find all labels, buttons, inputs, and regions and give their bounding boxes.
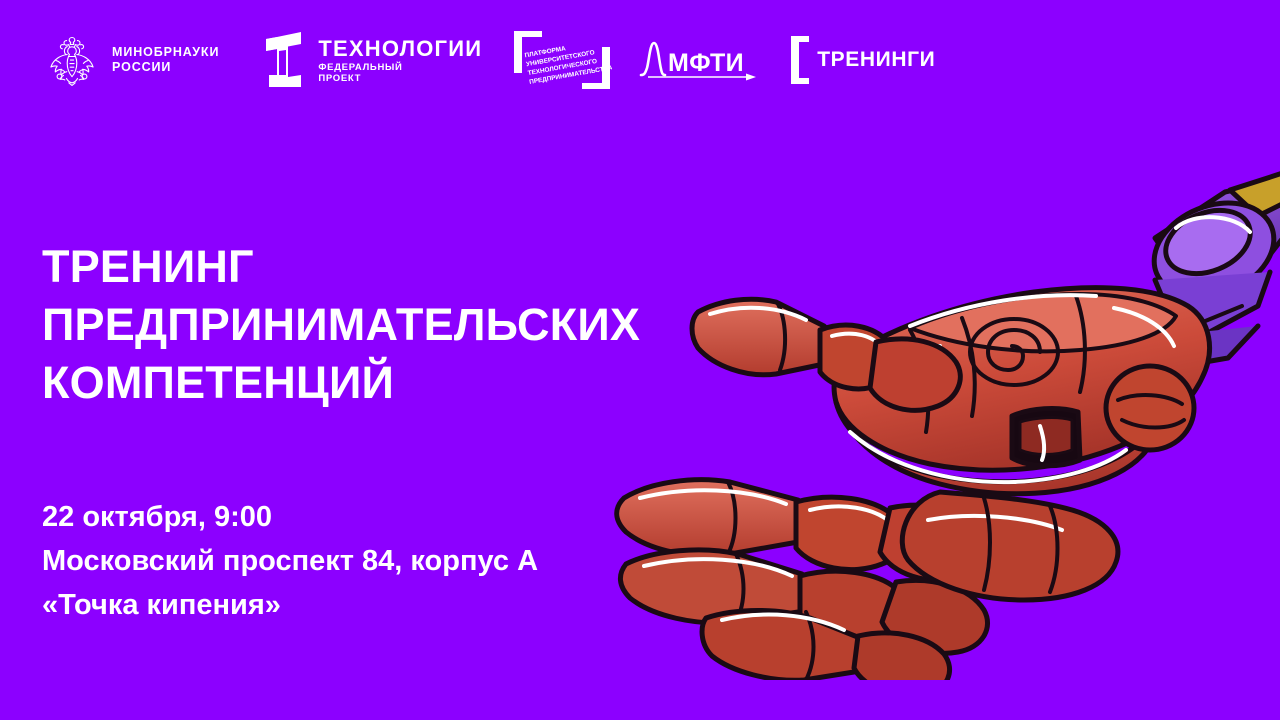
logo-mfti: МФТИ	[638, 28, 758, 92]
headline-line-1: ТРЕНИНГ	[42, 238, 702, 296]
event-datetime: 22 октября, 9:00	[42, 495, 682, 539]
logo-tekhnologii-subtitle: ФЕДЕРАЛЬНЫЙ ПРОЕКТ	[318, 62, 482, 84]
page-title: ТРЕНИНГ ПРЕДПРИНИМАТЕЛЬСКИХ КОМПЕТЕНЦИЙ	[42, 238, 702, 412]
russia-coat-of-arms-icon	[44, 30, 100, 90]
event-address: Московский проспект 84, корпус А	[42, 539, 682, 583]
svg-text:МФТИ: МФТИ	[668, 49, 744, 77]
logo-minobrnauki: МИНОБРНАУКИ РОССИИ	[44, 28, 219, 92]
logo-strip: МИНОБРНАУКИ РОССИИ ТЕХНОЛОГИИ ФЕДЕРАЛЬНЫ…	[44, 28, 935, 92]
index-finger	[692, 299, 960, 410]
headline-line-2: ПРЕДПРИНИМАТЕЛЬСКИХ	[42, 296, 702, 354]
logo-platforma: ПЛАТФОРМА УНИВЕРСИТЕТСКОГО ТЕХНОЛОГИЧЕСК…	[512, 28, 612, 92]
logo-tekhnologii: ТЕХНОЛОГИИ ФЕДЕРАЛЬНЫЙ ПРОЕКТ	[257, 28, 482, 92]
robotic-hand-illustration	[610, 120, 1280, 680]
logo-treningi-title: ТРЕНИНГИ	[817, 48, 935, 72]
bracket-icon	[788, 34, 812, 86]
poster-canvas: МИНОБРНАУКИ РОССИИ ТЕХНОЛОГИИ ФЕДЕРАЛЬНЫ…	[0, 0, 1280, 720]
event-details: 22 октября, 9:00 Московский проспект 84,…	[42, 495, 682, 627]
logo-tekhnologii-title: ТЕХНОЛОГИИ	[318, 37, 482, 60]
isometric-one-icon	[257, 31, 309, 89]
pulse-wave-icon: МФТИ	[638, 35, 758, 85]
logo-minobrnauki-wordmark: МИНОБРНАУКИ РОССИИ	[112, 45, 219, 75]
headline-line-3: КОМПЕТЕНЦИЙ	[42, 354, 702, 412]
logo-treningi: ТРЕНИНГИ	[788, 28, 935, 92]
bracket-frame-icon: ПЛАТФОРМА УНИВЕРСИТЕТСКОГО ТЕХНОЛОГИЧЕСК…	[512, 29, 612, 91]
wrist-cylinder	[1106, 366, 1194, 450]
event-venue: «Точка кипения»	[42, 583, 682, 627]
